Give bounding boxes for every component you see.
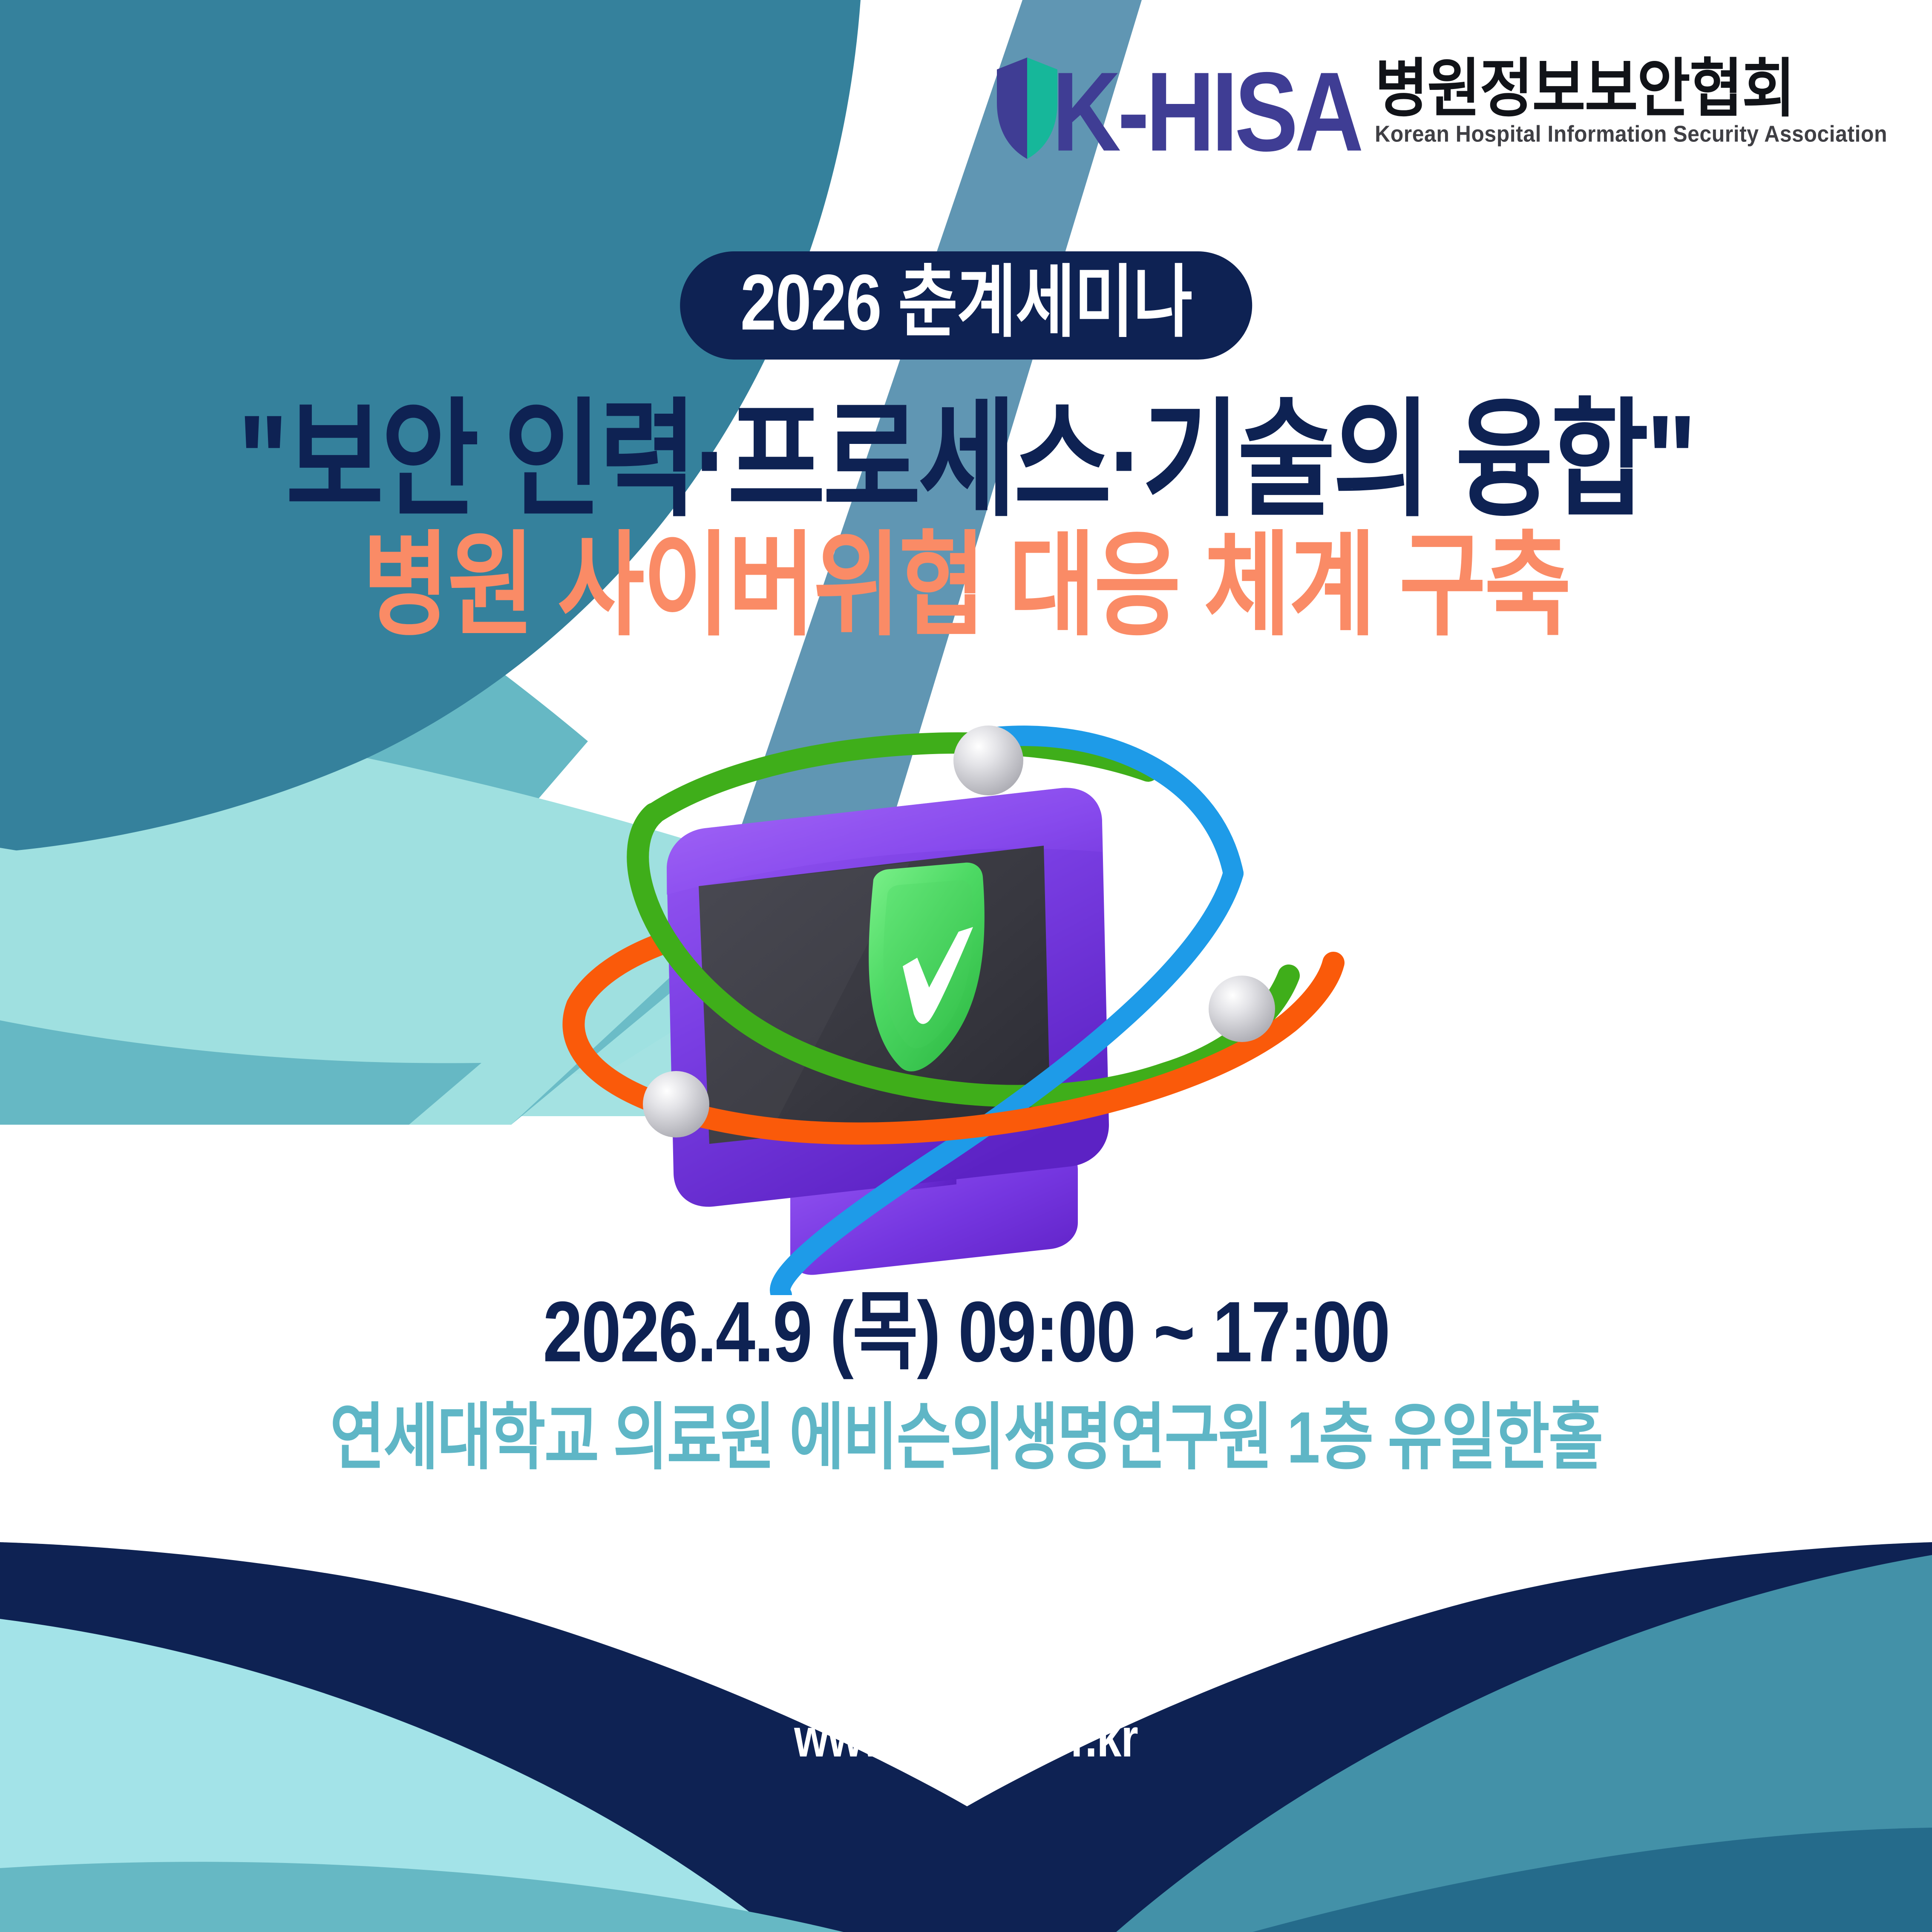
orbit-sphere-top bbox=[953, 726, 1023, 795]
event-details: 2026.4.9 (목) 09:00 ~ 17:00 연세대학교 의료원 에비슨… bbox=[0, 1289, 1932, 1461]
bottom-right-deep-teal-curve bbox=[1252, 1828, 1932, 1932]
seminar-badge: 2026 춘계세미나 bbox=[680, 251, 1252, 360]
orbit-sphere-bottom bbox=[643, 1071, 709, 1137]
logo-korean-name: 병원정보보안협회 bbox=[1375, 57, 1887, 121]
orbit-sphere-right bbox=[1209, 976, 1275, 1042]
footer: 병원정보보안협회 www.k-hisa.or.kr bbox=[0, 1642, 1932, 1756]
logo-wordmark-text: K-HISA bbox=[1052, 60, 1361, 164]
bottom-left-teal-curve bbox=[0, 1862, 844, 1932]
logo-english-name: Korean Hospital Information Security Ass… bbox=[1375, 121, 1887, 147]
footer-organization-name: 병원정보보안협회 bbox=[0, 1642, 1932, 1696]
page-title: "보안 인력·프로세스·기술의 융합" bbox=[0, 396, 1932, 524]
shield-icon bbox=[995, 55, 1059, 161]
poster-canvas: K-HISA 병원정보보안협회 Korean Hospital Informat… bbox=[0, 0, 1932, 1932]
page-subtitle: 병원 사이버위협 대응 체계 구축 bbox=[0, 529, 1932, 642]
headline: "보안 인력·프로세스·기술의 융합" 병원 사이버위협 대응 체계 구축 bbox=[0, 396, 1932, 624]
event-venue: 연세대학교 의료원 에비슨의생명연구원 1층 유일한홀 bbox=[0, 1401, 1932, 1474]
seminar-badge-label: 2026 춘계세미나 bbox=[740, 263, 1192, 342]
footer-website-url[interactable]: www.k-hisa.or.kr bbox=[0, 1711, 1932, 1765]
khisa-logo[interactable]: K-HISA 병원정보보안협회 Korean Hospital Informat… bbox=[995, 40, 1887, 161]
event-datetime: 2026.4.9 (목) 09:00 ~ 17:00 bbox=[0, 1289, 1932, 1375]
top-left-teal-wedge bbox=[0, 1020, 481, 1125]
secure-monitor-3d-illustration bbox=[526, 631, 1361, 1295]
